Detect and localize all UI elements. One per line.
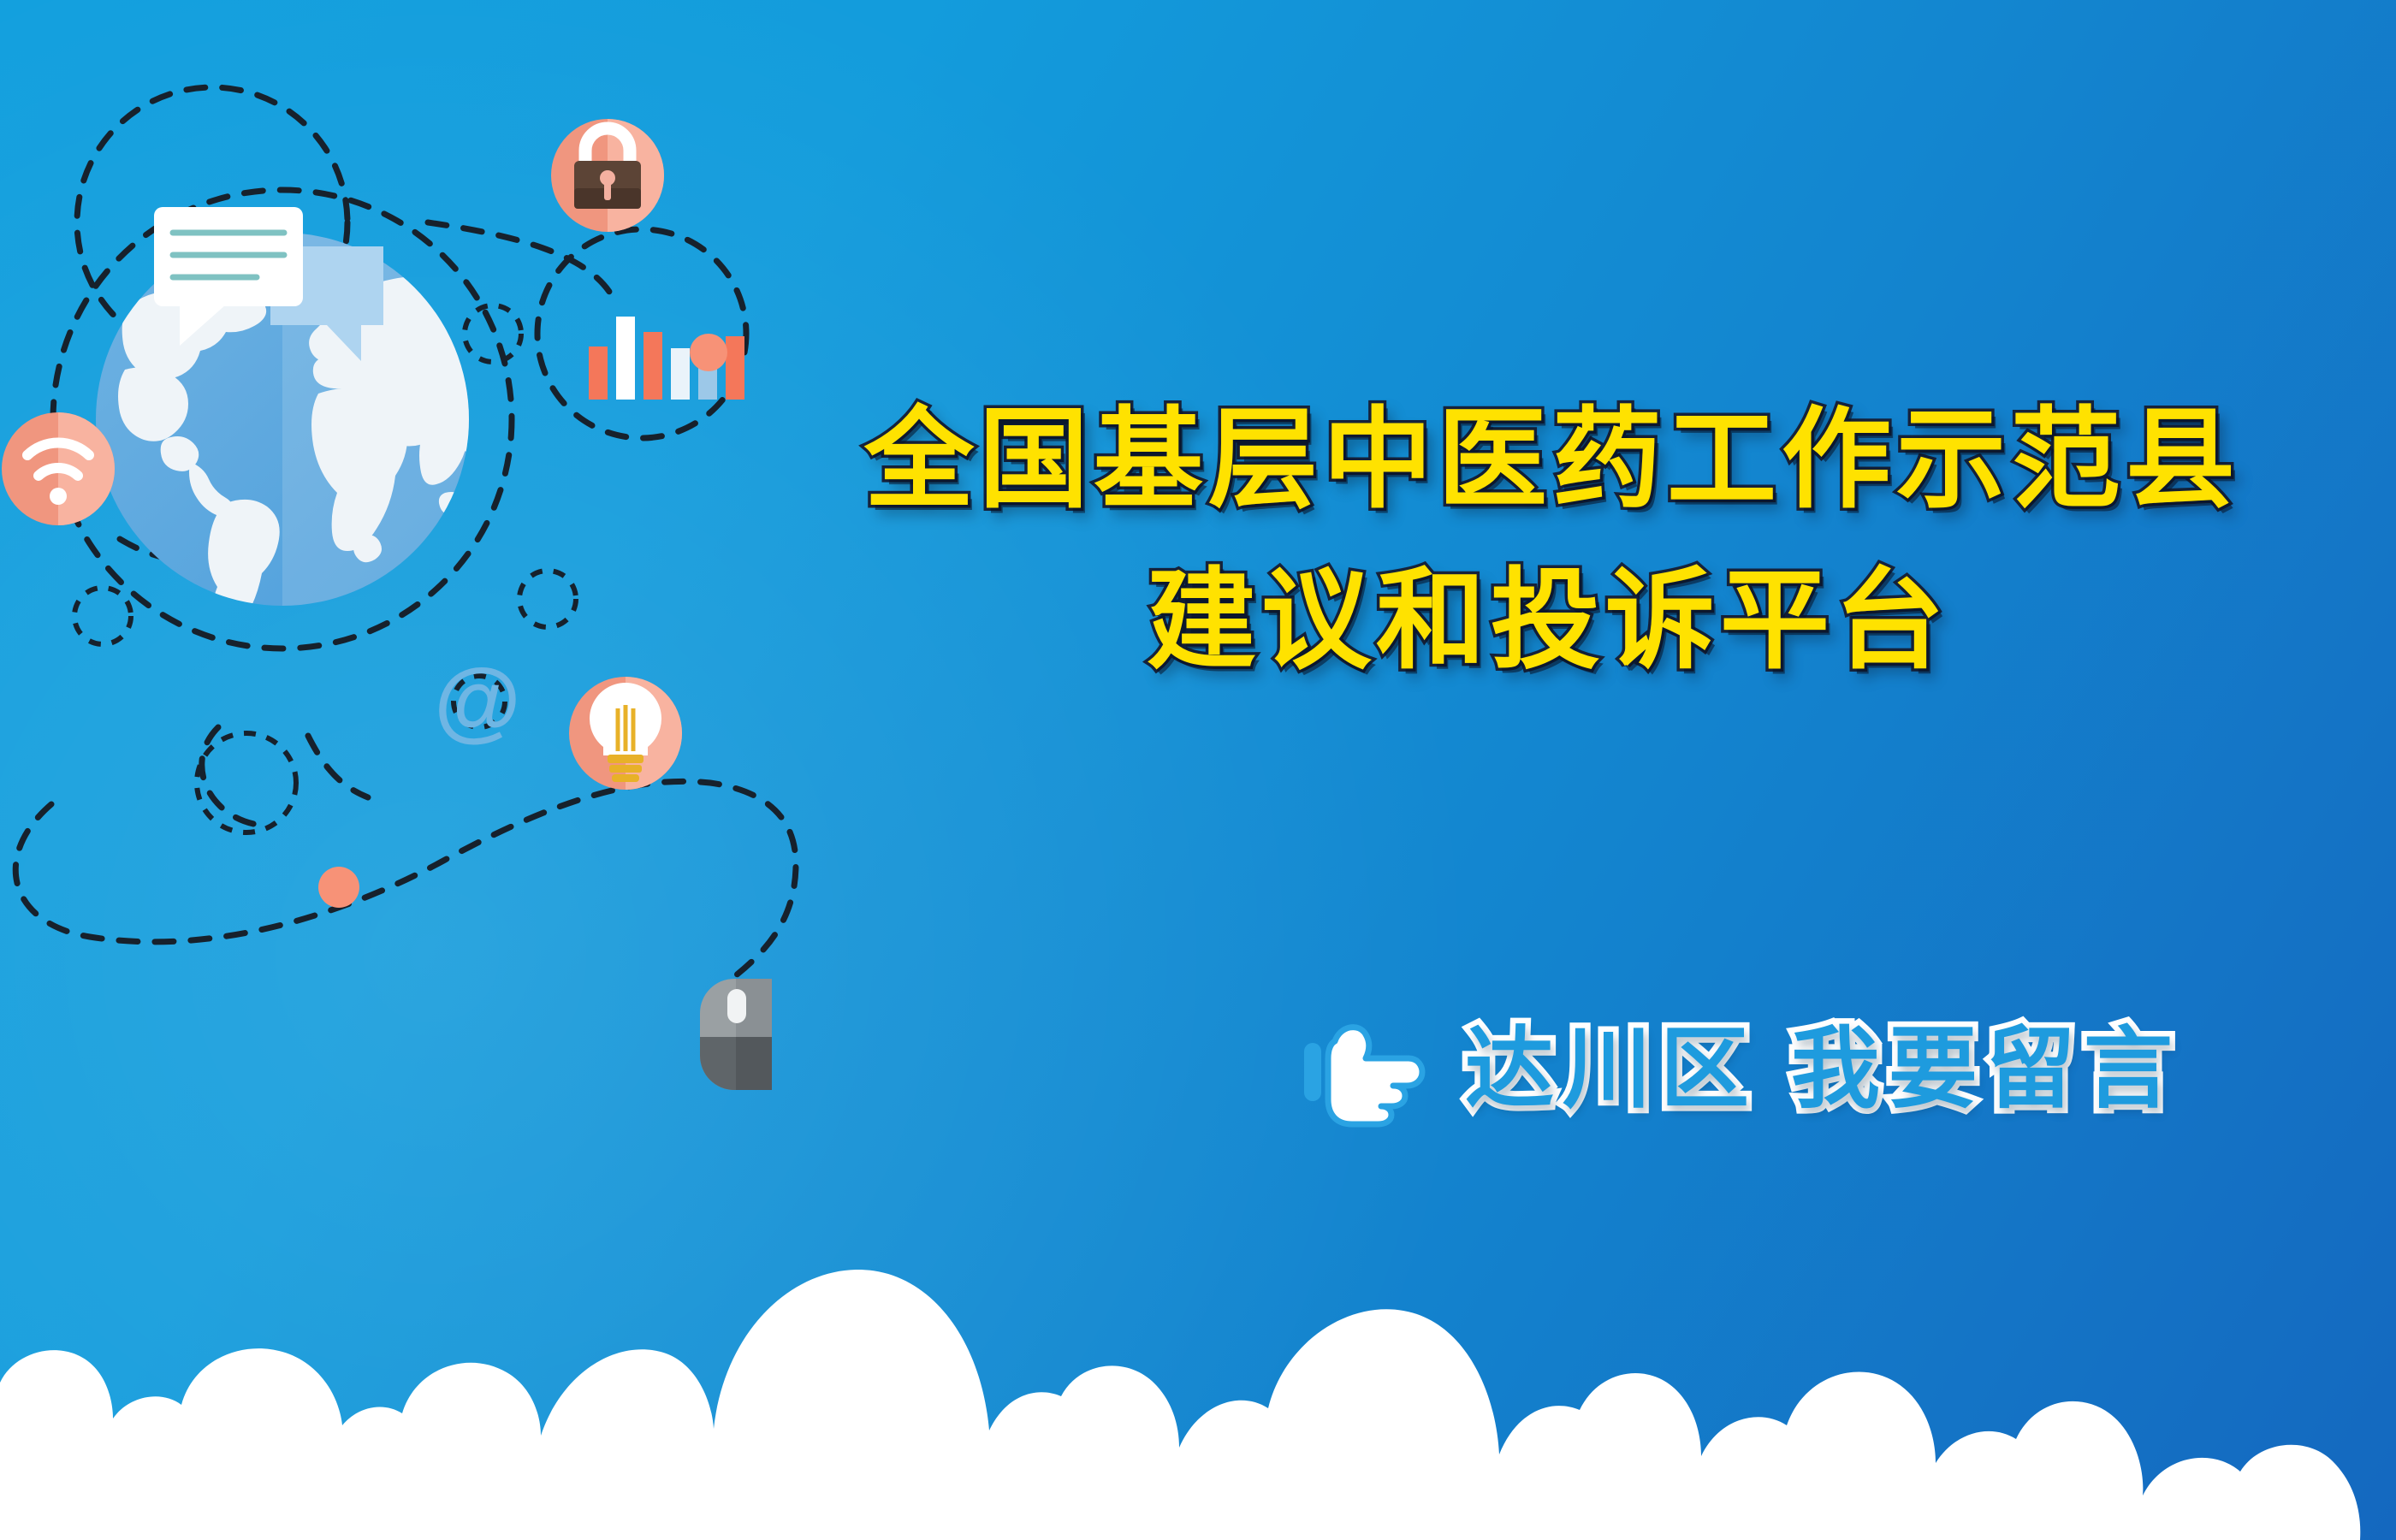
- dashed-dot-circle-4: [519, 571, 576, 627]
- dashed-link-bulb-left: [202, 727, 270, 826]
- lock-icon: [551, 119, 664, 232]
- dashed-dot-circle-6: [197, 733, 296, 832]
- lightbulb-icon: [569, 677, 682, 790]
- page-title-line-2: 建议和投诉平台: [1147, 550, 2370, 692]
- dashed-dot-circle-2: [74, 588, 131, 644]
- leave-message-cta[interactable]: 达川区 我要留言: [1299, 1005, 2181, 1134]
- page-title-line-1: 全国基层中医药工作示范县: [864, 389, 2370, 531]
- computer-mouse-icon: [700, 979, 772, 1090]
- accent-dot-2: [318, 867, 359, 908]
- illustration-cluster: @: [0, 51, 1010, 1164]
- dashed-link-lock: [428, 222, 616, 304]
- pointing-hand-right-icon: [1299, 1005, 1427, 1134]
- cloud-decoration: [0, 1181, 2396, 1540]
- wifi-icon: [2, 412, 115, 525]
- dashed-dot-circle-3: [465, 305, 521, 362]
- at-sign-icon: @: [434, 651, 520, 750]
- headline-block: 全国基层中医药工作示范县 建议和投诉平台: [864, 389, 2370, 693]
- dashed-link-at: [308, 736, 368, 797]
- cta-label: 达川区 我要留言: [1465, 1025, 2181, 1114]
- dashed-trail-mouse: [15, 781, 796, 975]
- accent-dot-1: [690, 334, 727, 371]
- svg-text:@: @: [434, 651, 520, 750]
- banner-canvas: @ 全国基层中医药工作示范县 建议和投诉平台 达川区: [0, 0, 2396, 1540]
